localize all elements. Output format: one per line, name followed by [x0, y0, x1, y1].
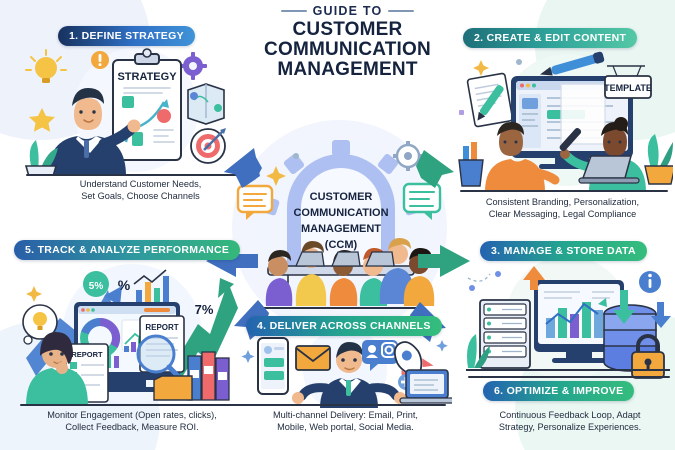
step-5-caption-line-1: Monitor Engagement (Open rates, clicks), [18, 409, 246, 421]
step-4-caption-line-1: Multi-channel Delivery: Email, Print, [243, 409, 448, 421]
step-2-badge[interactable]: 2. CREATE & EDIT CONTENT [463, 28, 637, 48]
step-5-caption-line-2: Collect Feedback, Measure ROI. [18, 421, 246, 433]
step-1-badge[interactable]: 1. DEFINE STRATEGY [58, 26, 195, 46]
step-4-badge[interactable]: 4. DELIVER ACROSS CHANNELS [246, 316, 442, 336]
title-rule-left [281, 10, 307, 12]
arrow-hub-to-step3 [418, 245, 470, 277]
step-2-caption-line-2: Clear Messaging, Legal Compliance [455, 208, 670, 220]
title-line-3: MANAGEMENT [240, 60, 455, 80]
step-1-caption-line-1: Understand Customer Needs, [38, 178, 243, 190]
step-1-caption: Understand Customer Needs, Set Goals, Ch… [38, 178, 243, 202]
step-2-caption-line-1: Consistent Branding, Personalization, [455, 196, 670, 208]
step-6-caption: Continuous Feedback Loop, Adapt Strategy… [470, 409, 670, 433]
title-line-2: COMMUNICATION [240, 40, 455, 60]
page-title: GUIDE TO CUSTOMER COMMUNICATION MANAGEME… [240, 4, 455, 80]
step-6-caption-line-1: Continuous Feedback Loop, Adapt [470, 409, 670, 421]
step-5-badge[interactable]: 5. TRACK & ANALYZE PERFORMANCE [14, 240, 240, 260]
step-1-caption-line-2: Set Goals, Choose Channels [38, 190, 243, 202]
step-6-badge[interactable]: 6. OPTIMIZE & IMPROVE [483, 381, 634, 401]
step-5-caption: Monitor Engagement (Open rates, clicks),… [18, 409, 246, 433]
step-6-caption-line-2: Strategy, Personalize Experiences. [470, 421, 670, 433]
title-eyebrow-row: GUIDE TO [240, 4, 455, 18]
step-2-caption: Consistent Branding, Personalization, Cl… [455, 196, 670, 220]
title-eyebrow: GUIDE TO [313, 4, 383, 18]
arrow-hub-to-step2 [416, 150, 454, 188]
step-4-caption-line-2: Mobile, Web portal, Social Media. [243, 421, 448, 433]
step-4-caption: Multi-channel Delivery: Email, Print, Mo… [243, 409, 448, 433]
title-rule-right [388, 10, 414, 12]
infographic-canvas: GUIDE TO CUSTOMER COMMUNICATION MANAGEME… [0, 0, 675, 450]
title-line-1: CUSTOMER [240, 20, 455, 40]
step-3-badge[interactable]: 3. MANAGE & STORE DATA [480, 241, 647, 261]
